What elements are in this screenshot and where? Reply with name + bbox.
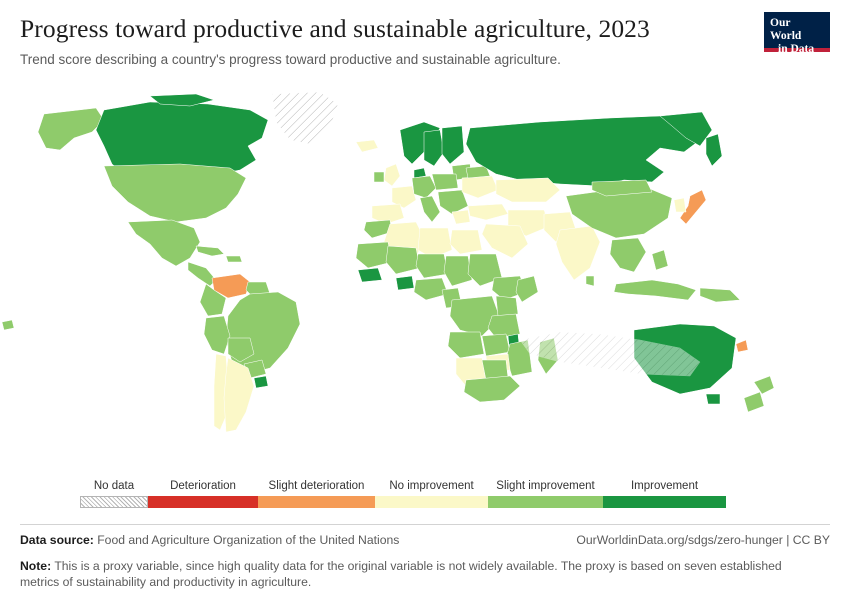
country-central-america[interactable] xyxy=(188,262,216,286)
country-kamchatka[interactable] xyxy=(706,134,722,166)
country-alaska[interactable] xyxy=(38,108,104,150)
country-indonesia[interactable] xyxy=(614,280,696,300)
country-korea[interactable] xyxy=(674,198,686,212)
country-libya[interactable] xyxy=(418,228,452,258)
country-saudi-arabia[interactable] xyxy=(482,224,528,258)
country-angola[interactable] xyxy=(448,332,484,358)
country-ghana[interactable] xyxy=(396,276,414,290)
country-niger[interactable] xyxy=(416,254,448,278)
country-sweden[interactable] xyxy=(424,130,444,166)
country-pacific-islands[interactable] xyxy=(2,320,14,330)
country-egypt[interactable] xyxy=(450,230,482,254)
page-title: Progress toward productive and sustainab… xyxy=(20,14,830,44)
country-cuba[interactable] xyxy=(196,246,224,256)
country-nigeria[interactable] xyxy=(414,278,448,300)
legend-swatch-deterioration[interactable] xyxy=(148,496,258,508)
legend-swatch-row xyxy=(80,496,726,508)
legend-swatch-slight-improvement[interactable] xyxy=(488,496,603,508)
country-united-states[interactable] xyxy=(104,164,246,222)
country-kenya[interactable] xyxy=(496,296,518,316)
country-brazil[interactable] xyxy=(226,292,300,374)
country-new-zealand-south[interactable] xyxy=(744,392,764,412)
world-choropleth-map[interactable] xyxy=(0,86,850,468)
country-italy[interactable] xyxy=(420,196,440,222)
legend-label-no-improvement: No improvement xyxy=(375,478,488,494)
country-new-caledonia[interactable] xyxy=(736,340,748,352)
country-mali[interactable] xyxy=(386,246,420,274)
country-new-zealand[interactable] xyxy=(754,376,774,394)
data-source-value: Food and Agriculture Organization of the… xyxy=(97,533,399,547)
legend-label-row: No data Deterioration Slight deteriorati… xyxy=(80,478,726,494)
country-ireland[interactable] xyxy=(374,172,384,182)
country-greece[interactable] xyxy=(452,210,470,224)
data-source-label: Data source: xyxy=(20,533,94,547)
owid-url-link[interactable]: OurWorldinData.org/sdgs/zero-hunger | CC… xyxy=(576,533,830,547)
footer-note-label: Note: xyxy=(20,559,51,573)
country-kazakhstan[interactable] xyxy=(496,178,560,202)
legend-label-improvement: Improvement xyxy=(603,478,726,494)
map-svg[interactable] xyxy=(0,86,850,468)
country-mexico[interactable] xyxy=(128,220,200,266)
country-finland[interactable] xyxy=(442,126,464,164)
country-zambia[interactable] xyxy=(482,334,510,356)
country-turkey[interactable] xyxy=(468,204,508,220)
country-mauritania[interactable] xyxy=(356,242,392,268)
country-germany[interactable] xyxy=(412,176,436,198)
country-greenland[interactable] xyxy=(272,92,338,144)
country-tasmania[interactable] xyxy=(706,394,720,404)
legend-swatch-no-data[interactable] xyxy=(80,496,148,508)
country-uruguay[interactable] xyxy=(254,376,268,388)
footer-divider xyxy=(20,524,830,525)
country-southeast-asia[interactable] xyxy=(610,238,646,272)
country-somalia[interactable] xyxy=(516,276,538,302)
footer: Data source: Food and Agriculture Organi… xyxy=(20,524,830,590)
country-sri-lanka[interactable] xyxy=(586,276,594,286)
legend-label-deterioration: Deterioration xyxy=(148,478,258,494)
legend-label-slight-deterioration: Slight deterioration xyxy=(258,478,375,494)
page-subtitle: Trend score describing a country's progr… xyxy=(20,51,830,68)
legend-label-slight-improvement: Slight improvement xyxy=(488,478,603,494)
country-philippines[interactable] xyxy=(652,250,668,270)
country-peru[interactable] xyxy=(204,316,230,354)
country-poland[interactable] xyxy=(432,174,458,190)
footer-note: Note: This is a proxy variable, since hi… xyxy=(20,558,820,590)
logo-line-1: Our World xyxy=(770,17,824,43)
country-hispaniola[interactable] xyxy=(226,256,242,262)
legend-swatch-slight-deterioration[interactable] xyxy=(258,496,375,508)
country-india[interactable] xyxy=(556,226,600,280)
footer-note-value: This is a proxy variable, since high qua… xyxy=(20,559,782,589)
country-united-kingdom[interactable] xyxy=(384,164,400,186)
country-guinea[interactable] xyxy=(358,268,382,282)
country-chad[interactable] xyxy=(444,256,472,286)
header: Progress toward productive and sustainab… xyxy=(20,14,830,68)
data-source: Data source: Food and Agriculture Organi… xyxy=(20,533,399,547)
logo-line-2: in Data xyxy=(770,43,824,56)
chart-page: Progress toward productive and sustainab… xyxy=(0,0,850,600)
country-papua-new-guinea[interactable] xyxy=(700,288,740,302)
country-russia[interactable] xyxy=(466,116,700,186)
map-legend: No data Deterioration Slight deteriorati… xyxy=(0,478,850,520)
country-ukraine[interactable] xyxy=(462,176,498,198)
footer-source-row: Data source: Food and Agriculture Organi… xyxy=(20,533,830,549)
legend-label-no-data: No data xyxy=(80,478,148,494)
country-iceland[interactable] xyxy=(356,140,378,152)
legend-swatch-improvement[interactable] xyxy=(603,496,726,508)
legend-swatch-no-improvement[interactable] xyxy=(375,496,488,508)
our-world-in-data-logo[interactable]: Our World in Data xyxy=(764,12,830,52)
country-south-africa[interactable] xyxy=(464,376,520,402)
